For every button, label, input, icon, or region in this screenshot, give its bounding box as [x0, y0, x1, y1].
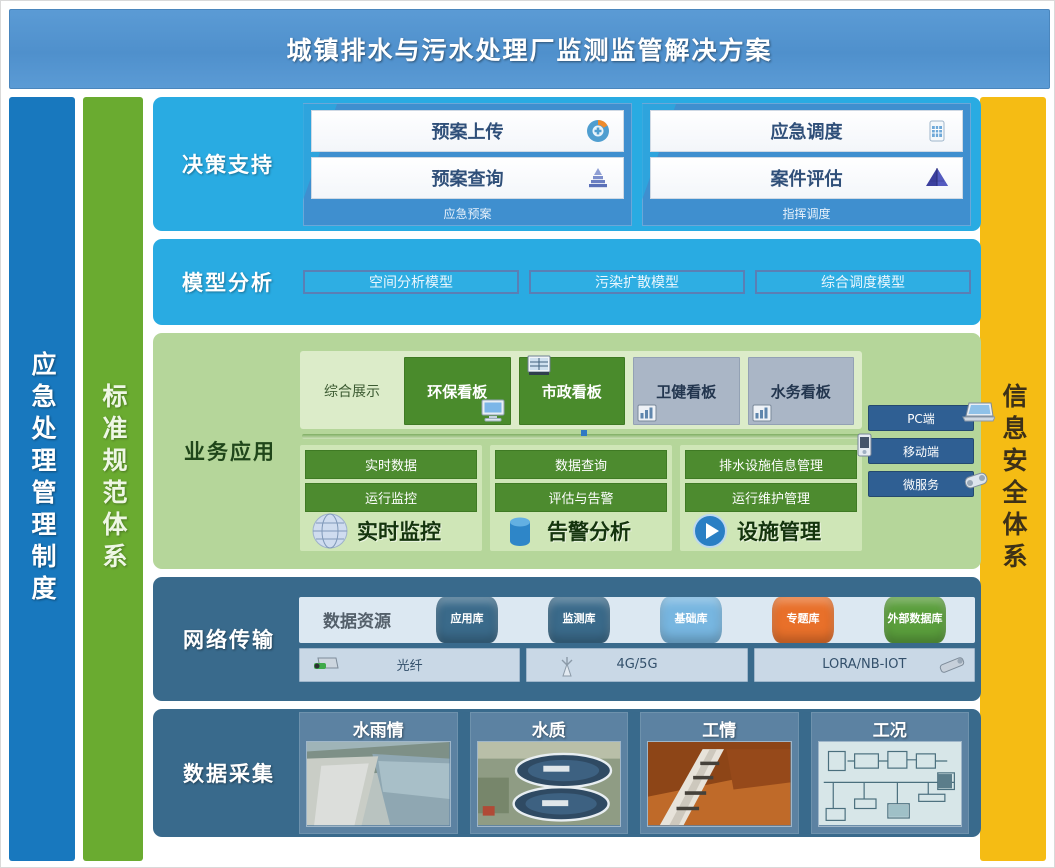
- terminal-label: 移动端: [903, 443, 939, 460]
- business-column-monitoring: 实时数据 运行监控 实时监控: [300, 445, 482, 551]
- database-monitoring[interactable]: 监测库: [529, 597, 629, 643]
- scada-diagram-photo: [818, 741, 963, 826]
- compass-icon: [585, 118, 611, 144]
- pillar-standards-system: 标准规范体系: [83, 97, 143, 861]
- decision-group-command-dispatch: 应急调度 案件评估: [642, 103, 971, 226]
- database-label: 外部数据库: [888, 613, 943, 625]
- model-item-label: 综合调度模型: [821, 272, 905, 292]
- solution-architecture-diagram: 城镇排水与污水处理厂监测监管解决方案 应急处理管理制度 标准规范体系 信息安全体…: [0, 0, 1055, 868]
- business-chip[interactable]: 数据查询: [495, 450, 667, 479]
- decision-group-caption: 应急预案: [311, 204, 624, 222]
- board-label: 水务看板: [771, 381, 831, 402]
- decision-item-label: 应急调度: [771, 118, 843, 144]
- business-column-facility: 排水设施信息管理 运行维护管理 设施管理: [680, 445, 862, 551]
- board-municipal[interactable]: 市政看板: [519, 357, 626, 425]
- chart-small-icon: [752, 404, 772, 422]
- model-item-label: 污染扩散模型: [595, 272, 679, 292]
- window-grid-icon: [526, 354, 552, 378]
- database-basic[interactable]: 基础库: [641, 597, 741, 643]
- phone-icon: [961, 469, 987, 489]
- chart-small-icon: [637, 404, 657, 422]
- database-application[interactable]: 应用库: [417, 597, 517, 643]
- decision-group-caption: 指挥调度: [650, 204, 963, 222]
- board-environment[interactable]: 环保看板: [404, 357, 511, 425]
- page-title: 城镇排水与污水处理厂监测监管解决方案: [286, 31, 772, 67]
- mobile-icon: [851, 432, 877, 452]
- terminals-group: PC端: [862, 351, 974, 551]
- business-chip[interactable]: 评估与告警: [495, 483, 667, 512]
- model-item-integrated-dispatch[interactable]: 综合调度模型: [755, 270, 971, 294]
- layer-model-label: 模型分析: [158, 267, 298, 297]
- business-module-facility-management[interactable]: 设施管理: [685, 516, 857, 546]
- laptop-icon: [961, 400, 987, 420]
- data-resources-row: 数据资源 应用库 监测库 基础库 专题库: [299, 597, 975, 643]
- collection-card-operating-condition[interactable]: 工况: [811, 712, 970, 833]
- transport-links-row: 光纤 4G/5G LORA/NB-I: [299, 648, 975, 682]
- board-label: 卫健看板: [656, 381, 716, 402]
- board-label: 市政看板: [542, 381, 602, 402]
- link-label: LORA/NB-IOT: [822, 657, 906, 672]
- layer-business-label: 业务应用: [160, 436, 300, 466]
- collection-card-rainfall[interactable]: 水雨情: [299, 712, 458, 833]
- business-chip[interactable]: 实时数据: [305, 450, 477, 479]
- pyramid-steps-icon: [585, 165, 611, 191]
- globe-icon: [309, 510, 351, 552]
- cable-icon: [310, 654, 342, 676]
- link-4g-5g[interactable]: 4G/5G: [526, 648, 747, 682]
- terminal-label: PC端: [907, 410, 935, 427]
- river-channel-photo: [306, 741, 451, 826]
- decision-item-label: 案件评估: [771, 165, 843, 191]
- grid-table-icon: [924, 118, 950, 144]
- business-column-alarm: 数据查询 评估与告警 告警分析: [490, 445, 672, 551]
- layer-network-label: 网络传输: [159, 624, 299, 654]
- section-divider: [302, 434, 860, 439]
- board-health[interactable]: 卫健看板: [633, 357, 740, 425]
- layers-column: 决策支持 预案上传: [153, 97, 981, 863]
- collection-card-label: 工况: [814, 715, 967, 741]
- diagram-title-bar: 城镇排水与污水处理厂监测监管解决方案: [9, 9, 1050, 89]
- business-module-realtime-monitoring[interactable]: 实时监控: [305, 516, 477, 546]
- link-label: 光纤: [397, 655, 423, 674]
- decision-group-emergency-plan: 预案上传 预案查询: [303, 103, 632, 226]
- decision-item-label: 预案查询: [432, 165, 504, 191]
- database-label: 应用库: [451, 613, 484, 625]
- business-module-label: 设施管理: [737, 516, 821, 546]
- board-water-affairs[interactable]: 水务看板: [748, 357, 855, 425]
- terminal-pc[interactable]: PC端: [868, 405, 974, 431]
- layer-decision-label: 决策支持: [158, 149, 298, 179]
- database-icon: [499, 510, 541, 552]
- database-label: 监测库: [563, 613, 596, 625]
- collection-card-label: 水质: [473, 715, 626, 741]
- layer-business-application: 业务应用 综合展示 环保看板: [153, 333, 981, 569]
- collection-card-label: 工情: [643, 715, 796, 741]
- decision-item-plan-query[interactable]: 预案查询: [311, 157, 624, 199]
- layer-model-analysis: 模型分析 空间分析模型 污染扩散模型 综合调度模型: [153, 239, 981, 325]
- business-chip[interactable]: 排水设施信息管理: [685, 450, 857, 479]
- link-lora-nbiot[interactable]: LORA/NB-IOT: [754, 648, 975, 682]
- link-label: 4G/5G: [616, 657, 657, 672]
- decision-item-case-assessment[interactable]: 案件评估: [650, 157, 963, 199]
- sedimentation-tank-photo: [477, 741, 622, 826]
- terminal-label: 微服务: [903, 476, 939, 493]
- database-label: 基础库: [675, 613, 708, 625]
- data-resources-label: 数据资源: [309, 607, 405, 632]
- antenna-icon: [555, 654, 587, 676]
- database-external[interactable]: 外部数据库: [865, 597, 965, 643]
- display-boards-row: 综合展示 环保看板: [300, 351, 862, 429]
- decision-item-emergency-dispatch[interactable]: 应急调度: [650, 110, 963, 152]
- sensor-icon: [936, 654, 968, 676]
- pyramid-solid-icon: [924, 165, 950, 191]
- collection-card-project-status[interactable]: 工情: [640, 712, 799, 833]
- link-fiber[interactable]: 光纤: [299, 648, 520, 682]
- board-label: 环保看板: [427, 381, 487, 402]
- business-chip[interactable]: 运行维护管理: [685, 483, 857, 512]
- business-module-alarm-analysis[interactable]: 告警分析: [495, 516, 667, 546]
- monitor-icon: [480, 398, 506, 422]
- business-module-label: 告警分析: [547, 516, 631, 546]
- pillar-security-label: 信息安全体系: [995, 383, 1031, 575]
- model-item-spatial[interactable]: 空间分析模型: [303, 270, 519, 294]
- layer-collection-label: 数据采集: [159, 758, 299, 788]
- business-module-label: 实时监控: [357, 516, 441, 546]
- layer-data-collection: 数据采集 水雨情: [153, 709, 981, 837]
- layer-decision-support: 决策支持 预案上传: [153, 97, 981, 231]
- display-boards-label: 综合展示: [308, 357, 396, 425]
- pillar-emergency-label: 应急处理管理制度: [24, 351, 60, 607]
- business-chip[interactable]: 运行监控: [305, 483, 477, 512]
- model-item-pollution-diffusion[interactable]: 污染扩散模型: [529, 270, 745, 294]
- decision-item-label: 预案上传: [432, 118, 504, 144]
- database-thematic[interactable]: 专题库: [753, 597, 853, 643]
- pillar-standard-label: 标准规范体系: [95, 383, 131, 575]
- database-label: 专题库: [787, 613, 820, 625]
- pipeline-trench-photo: [647, 741, 792, 826]
- terminal-microservice[interactable]: 微服务: [868, 471, 974, 497]
- layer-network-transmission: 网络传输 数据资源 应用库 监测库 基础库: [153, 577, 981, 701]
- collection-card-label: 水雨情: [302, 715, 455, 741]
- collection-card-water-quality[interactable]: 水质: [470, 712, 629, 833]
- pillar-emergency-management: 应急处理管理制度: [9, 97, 75, 861]
- terminal-mobile[interactable]: 移动端: [868, 438, 974, 464]
- decision-item-plan-upload[interactable]: 预案上传: [311, 110, 624, 152]
- model-item-label: 空间分析模型: [369, 272, 453, 292]
- play-circle-icon: [689, 510, 731, 552]
